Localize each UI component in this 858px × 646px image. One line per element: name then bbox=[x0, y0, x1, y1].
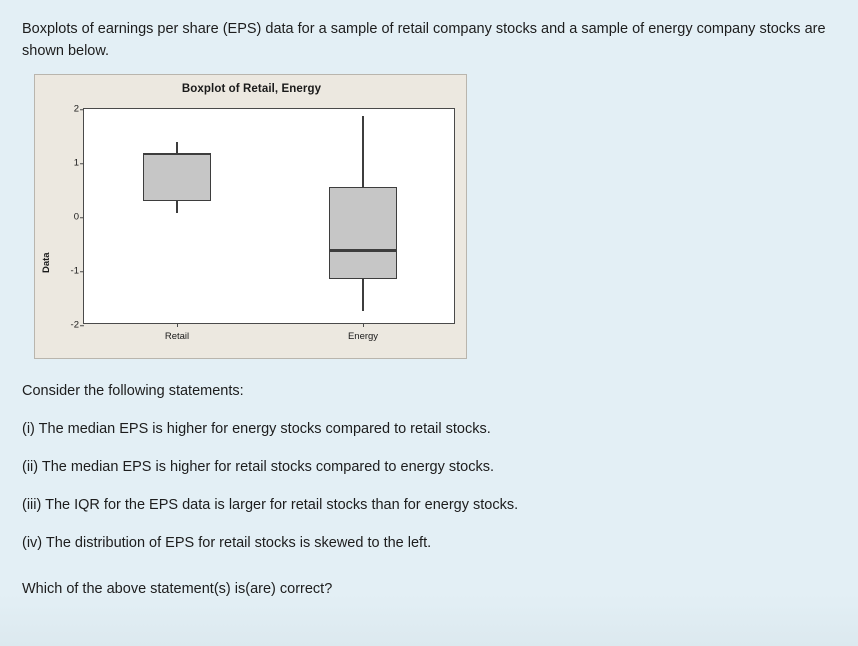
statement-i: (i) The median EPS is higher for energy … bbox=[22, 419, 834, 439]
chart-title: Boxplot of Retail, Energy bbox=[35, 83, 468, 95]
box-energy bbox=[329, 187, 397, 279]
statement-iii: (iii) The IQR for the EPS data is larger… bbox=[22, 495, 834, 515]
boxplot-chart-panel: Boxplot of Retail, Energy Data 210-1-2Re… bbox=[34, 74, 467, 359]
question-page: Boxplots of earnings per share (EPS) dat… bbox=[0, 0, 858, 646]
whisker-upper bbox=[362, 116, 364, 187]
y-axis-tick: -2 bbox=[71, 320, 84, 330]
y-axis-label: Data bbox=[41, 252, 52, 273]
whisker-lower bbox=[176, 201, 178, 213]
statement-iv: (iv) The distribution of EPS for retail … bbox=[22, 533, 834, 553]
whisker-lower bbox=[362, 279, 364, 311]
y-axis-tick: -1 bbox=[71, 266, 84, 276]
y-axis-tick: 1 bbox=[74, 158, 84, 168]
x-axis-tick bbox=[177, 323, 178, 327]
box-retail bbox=[143, 153, 211, 201]
x-axis-label-retail: Retail bbox=[165, 331, 189, 342]
x-axis-label-energy: Energy bbox=[348, 331, 378, 342]
median-line-energy bbox=[329, 249, 397, 251]
y-axis-tick: 0 bbox=[74, 212, 84, 222]
median-line-retail bbox=[143, 153, 211, 155]
intro-text: Boxplots of earnings per share (EPS) dat… bbox=[22, 18, 834, 62]
y-axis-tick: 2 bbox=[74, 104, 84, 114]
statements-lead-in: Consider the following statements: bbox=[22, 381, 834, 401]
whisker-upper bbox=[176, 142, 178, 153]
plot-area: 210-1-2RetailEnergy bbox=[83, 108, 455, 324]
x-axis-tick bbox=[363, 323, 364, 327]
statements-block: Consider the following statements: (i) T… bbox=[22, 381, 834, 553]
statement-ii: (ii) The median EPS is higher for retail… bbox=[22, 457, 834, 477]
final-question: Which of the above statement(s) is(are) … bbox=[22, 581, 834, 597]
